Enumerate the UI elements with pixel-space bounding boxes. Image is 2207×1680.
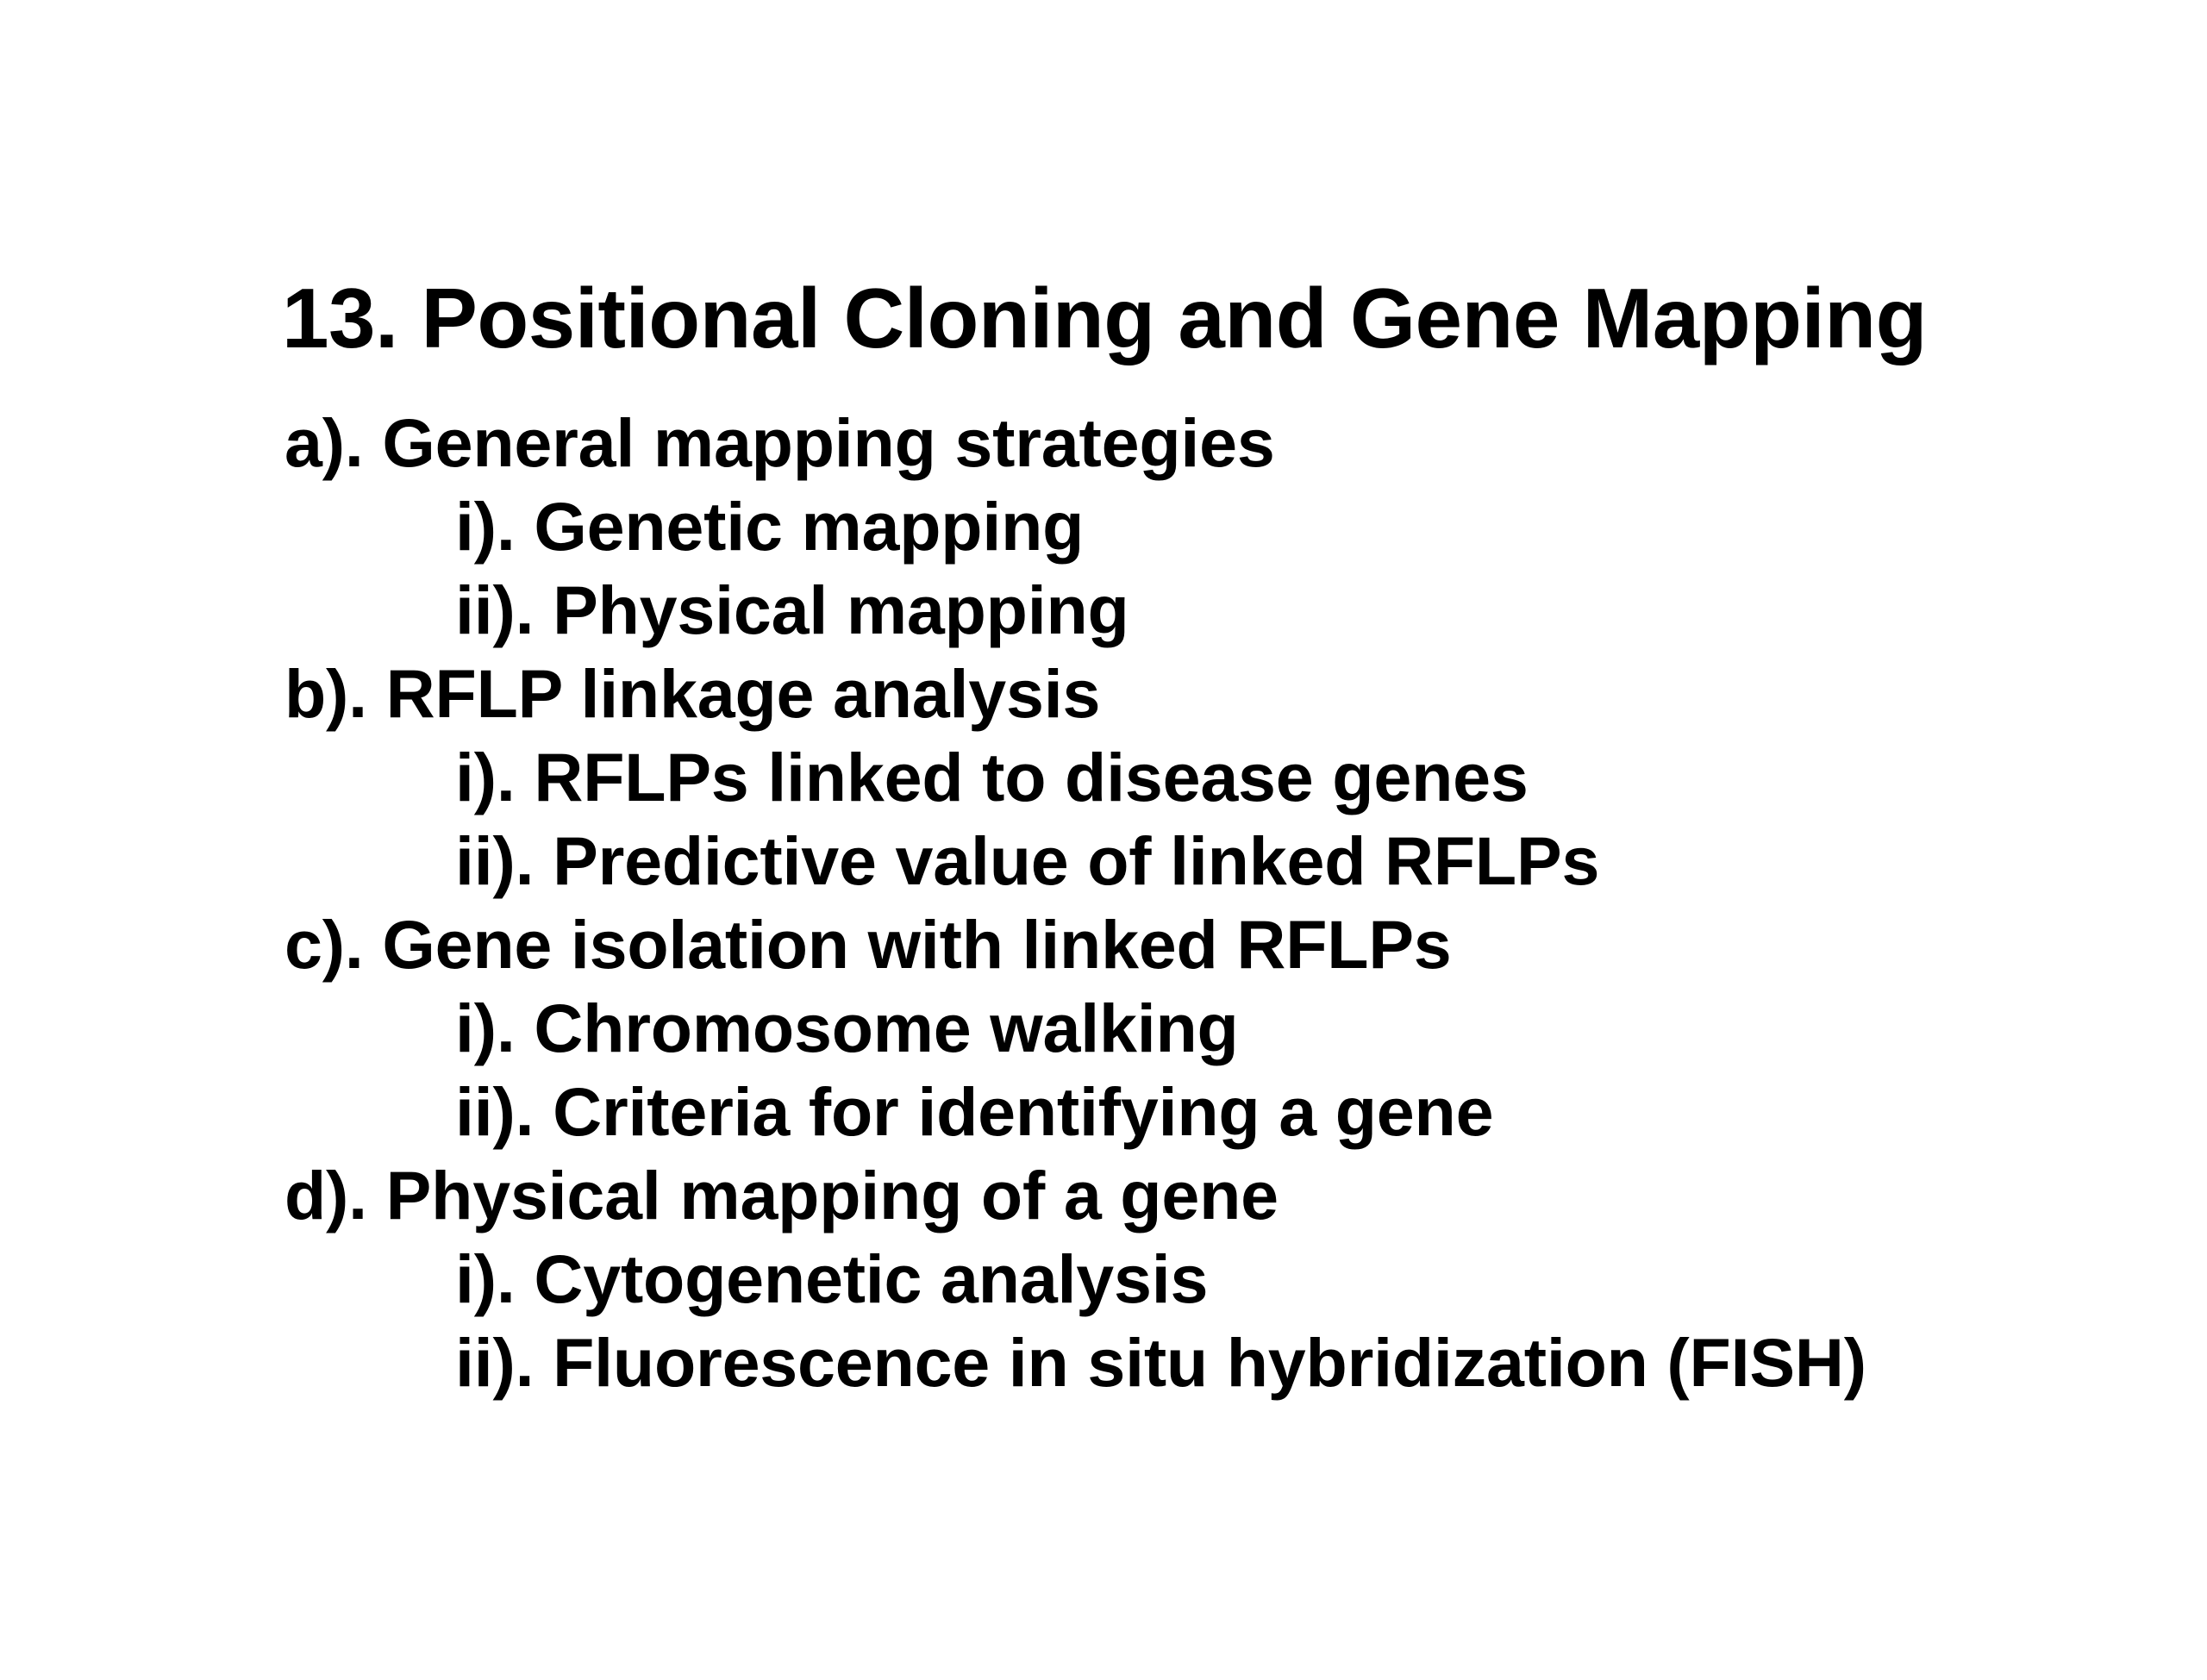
outline-item-level-2: i). Chromosome walking (0, 986, 2207, 1070)
outline-item-level-2: ii). Criteria for identifying a gene (0, 1070, 2207, 1153)
outline-item-level-1: b). RFLP linkage analysis (0, 652, 2207, 735)
outline-item-level-1: c). Gene isolation with linked RFLPs (0, 902, 2207, 986)
page-title: 13. Positional Cloning and Gene Mapping (282, 274, 1927, 364)
outline-item-level-2: i). RFLPs linked to disease genes (0, 735, 2207, 819)
outline-item-level-2: ii). Physical mapping (0, 568, 2207, 652)
outline-item-level-2: ii). Predictive value of linked RFLPs (0, 819, 2207, 902)
outline-item-level-2: ii). Fluorescence in situ hybridization … (0, 1321, 2207, 1404)
outline-item-level-2: i). Genetic mapping (0, 484, 2207, 568)
outline-item-level-2: i). Cytogenetic analysis (0, 1237, 2207, 1321)
slide-canvas: 13. Positional Cloning and Gene Mapping … (0, 0, 2207, 1680)
outline-item-level-1: a). General mapping strategies (0, 401, 2207, 484)
outline-list: a). General mapping strategiesi). Geneti… (0, 401, 2207, 1404)
outline-item-level-1: d). Physical mapping of a gene (0, 1153, 2207, 1237)
